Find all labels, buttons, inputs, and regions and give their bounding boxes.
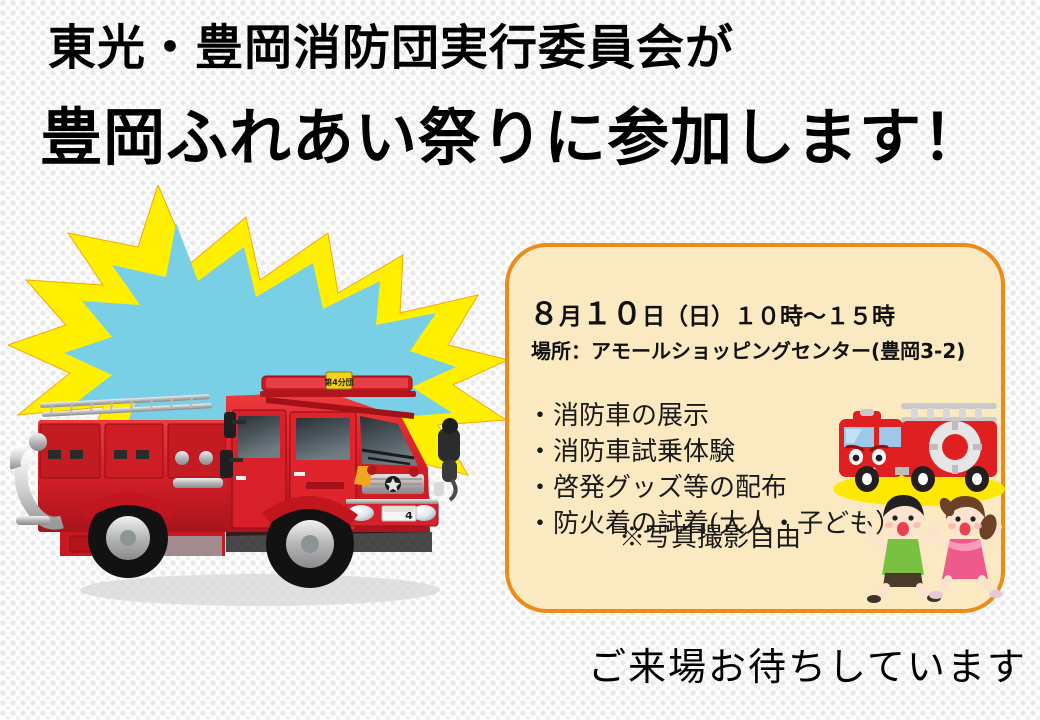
cab-front-window — [296, 418, 350, 460]
cartoon-window-right — [879, 427, 901, 447]
event-info-box: ８月１０日（日）１０時〜１５時 場所：アモールショッピングセンター(豊岡3-2)… — [505, 243, 1005, 613]
event-venue-line: 場所：アモールショッピングセンター(豊岡3-2) — [531, 335, 965, 364]
cartoon-truck-joint — [895, 467, 909, 475]
child-girl — [929, 495, 1003, 599]
boy-arm-left — [868, 529, 884, 545]
girl-blush-right — [974, 523, 982, 529]
date-number-8: ８ — [529, 297, 559, 332]
gauge-1 — [48, 450, 61, 459]
boy-shoe-left — [867, 595, 881, 603]
photo-permission-note: ※写真撮影自由 — [619, 517, 801, 554]
plate-top-band — [384, 507, 414, 512]
boy-blush-left — [885, 522, 893, 528]
breathing-apparatus-equipment — [434, 418, 460, 500]
fire-engine-photo: 第4分団 4 — [10, 300, 490, 620]
boy-mouth — [897, 522, 909, 536]
gauge-3 — [114, 450, 127, 459]
gauge-2 — [70, 450, 83, 459]
truck-roof-ladder — [40, 394, 212, 417]
poster-canvas: 東光・豊岡消防団実行委員会が 豊岡ふれあい祭りに参加します！ — [0, 0, 1040, 720]
date-day-number: １０ — [582, 297, 642, 332]
cartoon-roof-light-lens — [860, 409, 874, 416]
girl-shoe-left — [929, 591, 943, 599]
pump-outlet — [173, 478, 223, 488]
gauge-4 — [136, 450, 149, 459]
girl-leg-left — [938, 579, 948, 593]
boy-eye-left — [892, 515, 897, 520]
date-time-range: １０時〜１５時 — [734, 304, 895, 330]
girl-blush-left — [948, 523, 956, 529]
girl-leg-right — [982, 579, 994, 591]
front-door-handle — [294, 472, 305, 476]
cartoon-hose-reel-center — [942, 434, 968, 460]
bumper-chrome-strip — [346, 499, 438, 504]
boy-shirt — [882, 539, 924, 575]
date-month-kanji: 月 — [559, 304, 582, 330]
jumping-children-illustration — [864, 487, 1004, 607]
event-date-line: ８月１０日（日）１０時〜１５時 — [529, 289, 895, 333]
girl-mouth — [960, 523, 971, 536]
rear-door-handle — [236, 476, 246, 480]
girl-shoe-right — [989, 590, 1003, 598]
closing-message: ご来場お待ちしています — [588, 636, 1027, 691]
child-boy — [867, 495, 941, 603]
pump-valve-2 — [199, 451, 213, 465]
truck-side-locker-3 — [168, 424, 226, 478]
door-unit-text-plate — [306, 482, 344, 489]
boy-leg-left — [876, 587, 886, 597]
cartoon-truck-ladder — [901, 403, 997, 423]
marker-lamp-right — [409, 467, 419, 477]
unit-sign-text: 第4分団 — [324, 377, 354, 387]
roof-light-bar: 第4分団 — [260, 372, 416, 397]
date-weekday: （日） — [665, 304, 734, 330]
boy-eye-right — [908, 515, 913, 520]
page-title-line-1: 東光・豊岡消防団実行委員会が — [48, 22, 734, 75]
date-day-kanji: 日 — [642, 304, 665, 330]
girl-eye-right — [970, 516, 975, 521]
truck-side-locker-2 — [105, 424, 163, 478]
girl-eye-left — [955, 516, 960, 521]
pump-valve-1 — [175, 451, 189, 465]
boy-blush-right — [913, 522, 921, 528]
page-title-line-2: 豊岡ふれあい祭りに参加します！ — [40, 104, 985, 172]
photo-ground-shadow — [80, 574, 440, 606]
girl-arm-left — [932, 531, 946, 545]
marker-lamp-left — [367, 465, 377, 475]
